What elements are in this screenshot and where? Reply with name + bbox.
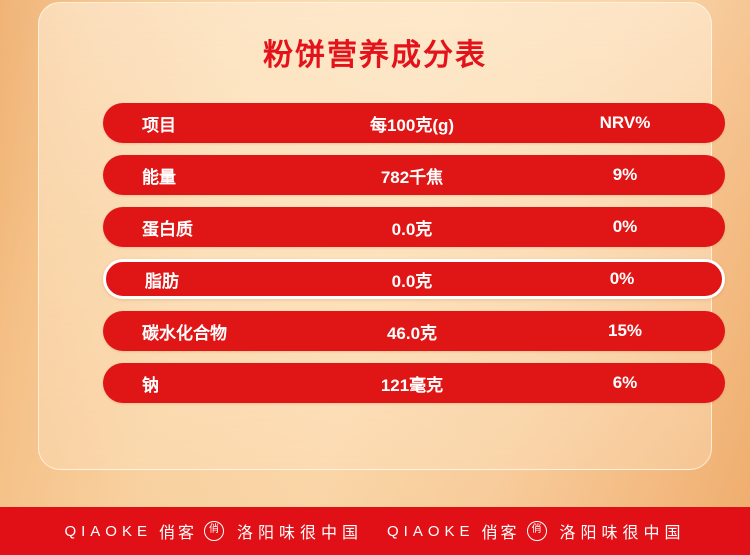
- brand-latin-name: QIAOKE: [387, 523, 475, 540]
- brand-strip: QIAOKE 俏客 俏 洛阳味很中国 QIAOKE 俏客 俏 洛阳味很中国: [64, 519, 685, 543]
- page-title: 粉饼营养成分表: [39, 36, 711, 76]
- row-nrv-value: 9%: [525, 165, 725, 185]
- brand-unit: QIAOKE 俏客 俏 洛阳味很中国: [64, 519, 363, 543]
- table-row: 蛋白质 0.0克 0%: [103, 207, 725, 247]
- row-nrv-value: 0%: [522, 269, 722, 289]
- brand-latin-name: QIAOKE: [64, 523, 152, 540]
- table-row: 钠 121毫克 6%: [103, 363, 725, 403]
- row-nrv-value: 15%: [525, 321, 725, 341]
- row-nrv-value: 6%: [525, 373, 725, 393]
- table-row-highlighted: 脂肪 0.0克 0%: [103, 259, 725, 299]
- brand-chinese-name: 俏客: [482, 519, 520, 543]
- brand-slogan: 洛阳味很中国: [237, 519, 363, 543]
- brand-unit: QIAOKE 俏客 俏 洛阳味很中国: [387, 519, 686, 543]
- brand-slogan: 洛阳味很中国: [560, 519, 686, 543]
- row-nrv-value: 0%: [525, 217, 725, 237]
- table-row: 能量 782千焦 9%: [103, 155, 725, 195]
- nutrition-facts-page: 粉饼营养成分表 项目 每100克(g) NRV% 能量 782千焦 9% 蛋白质…: [0, 0, 750, 555]
- table-row: 碳水化合物 46.0克 15%: [103, 311, 725, 351]
- table-header-row: 项目 每100克(g) NRV%: [103, 103, 725, 143]
- header-cell-nrv: NRV%: [525, 113, 725, 133]
- brand-chinese-name: 俏客: [159, 519, 197, 543]
- nutrition-table: 项目 每100克(g) NRV% 能量 782千焦 9% 蛋白质 0.0克 0%…: [103, 103, 725, 403]
- brand-logo-icon: 俏: [527, 521, 547, 541]
- brand-footer-banner: QIAOKE 俏客 俏 洛阳味很中国 QIAOKE 俏客 俏 洛阳味很中国: [0, 507, 750, 555]
- brand-logo-icon: 俏: [204, 521, 224, 541]
- nutrition-card: 粉饼营养成分表 项目 每100克(g) NRV% 能量 782千焦 9% 蛋白质…: [38, 2, 712, 470]
